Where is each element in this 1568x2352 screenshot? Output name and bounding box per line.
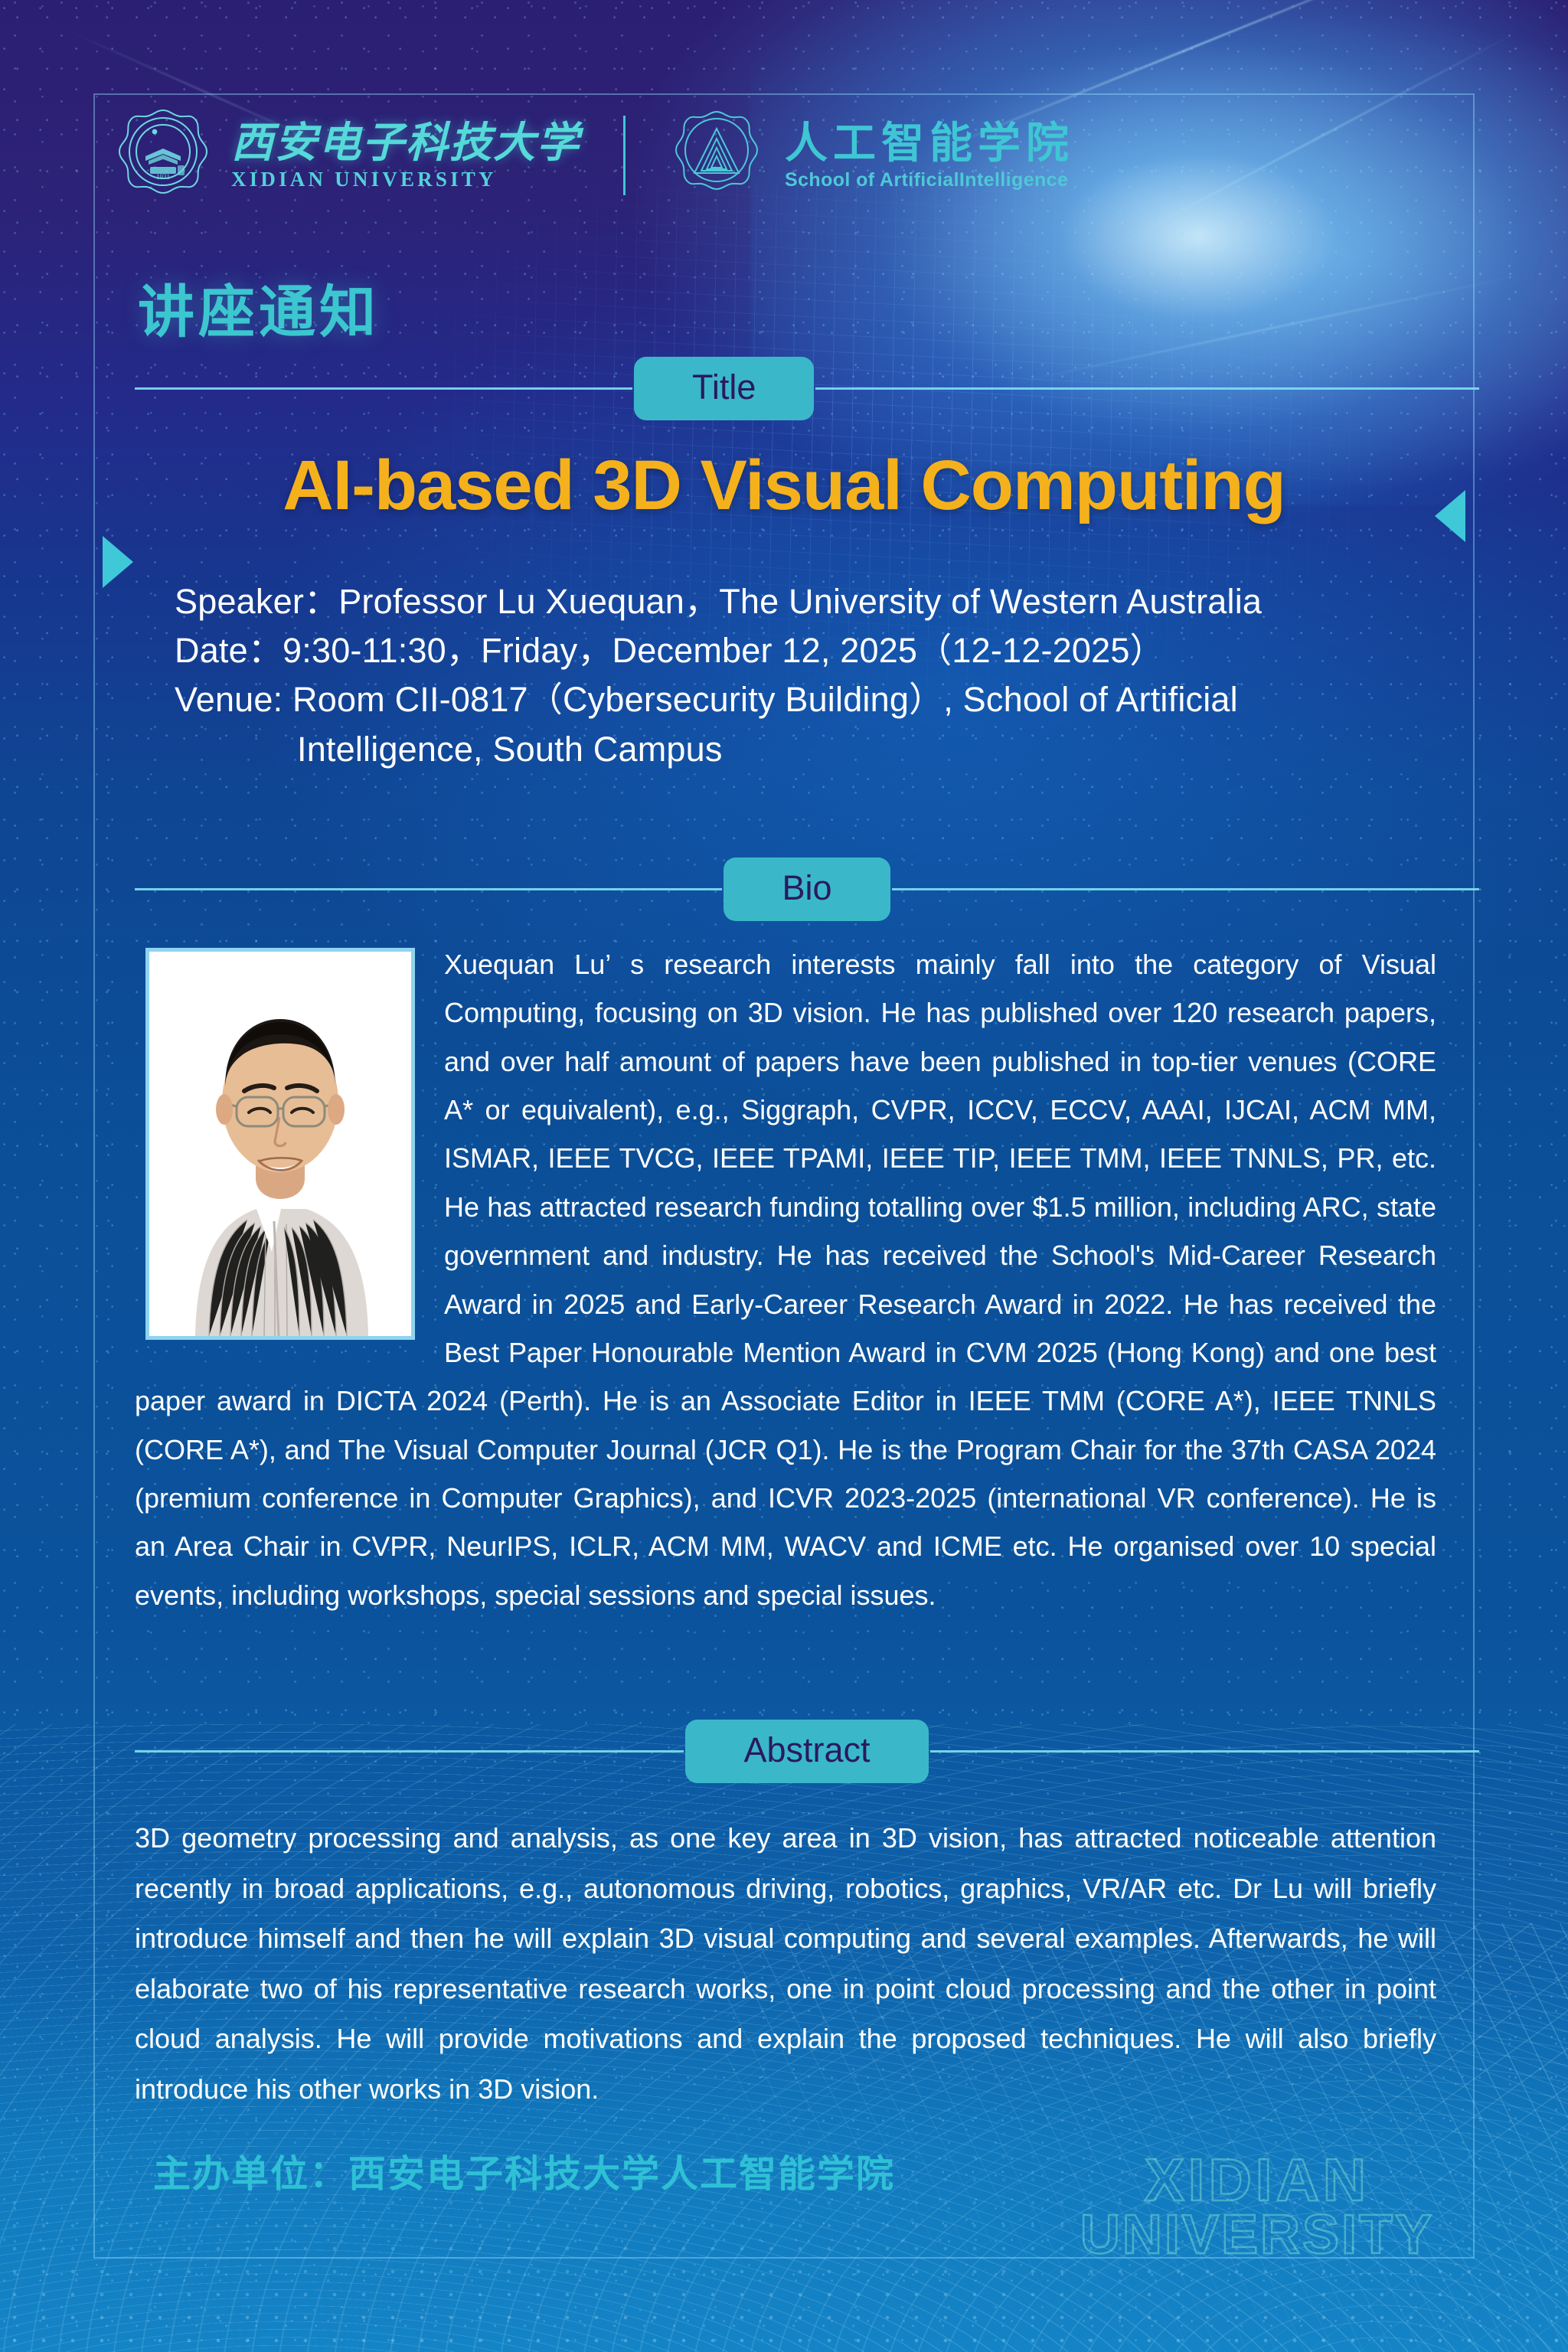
seal-year: 1931 bbox=[156, 173, 170, 181]
poster-header: 1931 西安电子科技大学 XIDIAN UNIVERSITY 人工智能学院 bbox=[115, 107, 1074, 204]
university-name-en: XIDIAN UNIVERSITY bbox=[231, 169, 580, 190]
poster-root: 1931 西安电子科技大学 XIDIAN UNIVERSITY 人工智能学院 bbox=[0, 0, 1568, 2352]
venue-line-continued: Intelligence, South Campus bbox=[175, 730, 1430, 769]
section-rule-right bbox=[815, 387, 1479, 390]
xidian-watermark: XIDIAN UNIVERSITY bbox=[1080, 2151, 1434, 2262]
section-rule-right bbox=[892, 888, 1479, 890]
talk-meta: Speaker：Professor Lu Xuequan，The Univers… bbox=[175, 582, 1430, 779]
section-header-bio: Bio bbox=[135, 857, 1479, 921]
section-pill-title: Title bbox=[634, 357, 814, 420]
section-rule-left bbox=[135, 888, 722, 890]
speaker-line: Speaker：Professor Lu Xuequan，The Univers… bbox=[175, 582, 1430, 622]
abstract-body-text: 3D geometry processing and analysis, as … bbox=[135, 1813, 1436, 2114]
host-organization-line: 主办单位：西安电子科技大学人工智能学院 bbox=[153, 2144, 895, 2198]
school-name-en: School of ArtificialIntelligence bbox=[785, 171, 1074, 190]
university-wordmark: 西安电子科技大学 XIDIAN UNIVERSITY bbox=[231, 122, 580, 190]
watermark-line-1: XIDIAN bbox=[1080, 2151, 1434, 2209]
section-header-abstract: Abstract bbox=[135, 1720, 1479, 1783]
section-pill-abstract: Abstract bbox=[685, 1720, 928, 1783]
section-pill-bio: Bio bbox=[724, 857, 890, 921]
speaker-portrait-photo bbox=[145, 948, 415, 1340]
date-line: Date：9:30-11:30，Friday，December 12, 2025… bbox=[175, 631, 1430, 671]
section-rule-left bbox=[135, 387, 632, 390]
header-divider bbox=[623, 116, 626, 195]
section-rule-left bbox=[135, 1750, 684, 1753]
xidian-university-seal-icon: 1931 bbox=[115, 107, 211, 204]
school-of-ai-seal-icon bbox=[668, 107, 765, 204]
school-wordmark: 人工智能学院 School of ArtificialIntelligence bbox=[785, 121, 1074, 190]
school-name-cn: 人工智能学院 bbox=[785, 121, 1074, 165]
university-name-cn: 西安电子科技大学 bbox=[231, 122, 580, 164]
talk-title: AI-based 3D Visual Computing bbox=[0, 450, 1568, 521]
notice-heading: 讲座通知 bbox=[138, 266, 380, 348]
section-header-title: Title bbox=[135, 357, 1479, 420]
venue-line: Venue: Room CII-0817（Cybersecurity Build… bbox=[175, 680, 1430, 720]
section-rule-right bbox=[930, 1750, 1479, 1753]
chevron-left-icon bbox=[103, 536, 133, 588]
watermark-line-2: UNIVERSITY bbox=[1080, 2209, 1434, 2262]
